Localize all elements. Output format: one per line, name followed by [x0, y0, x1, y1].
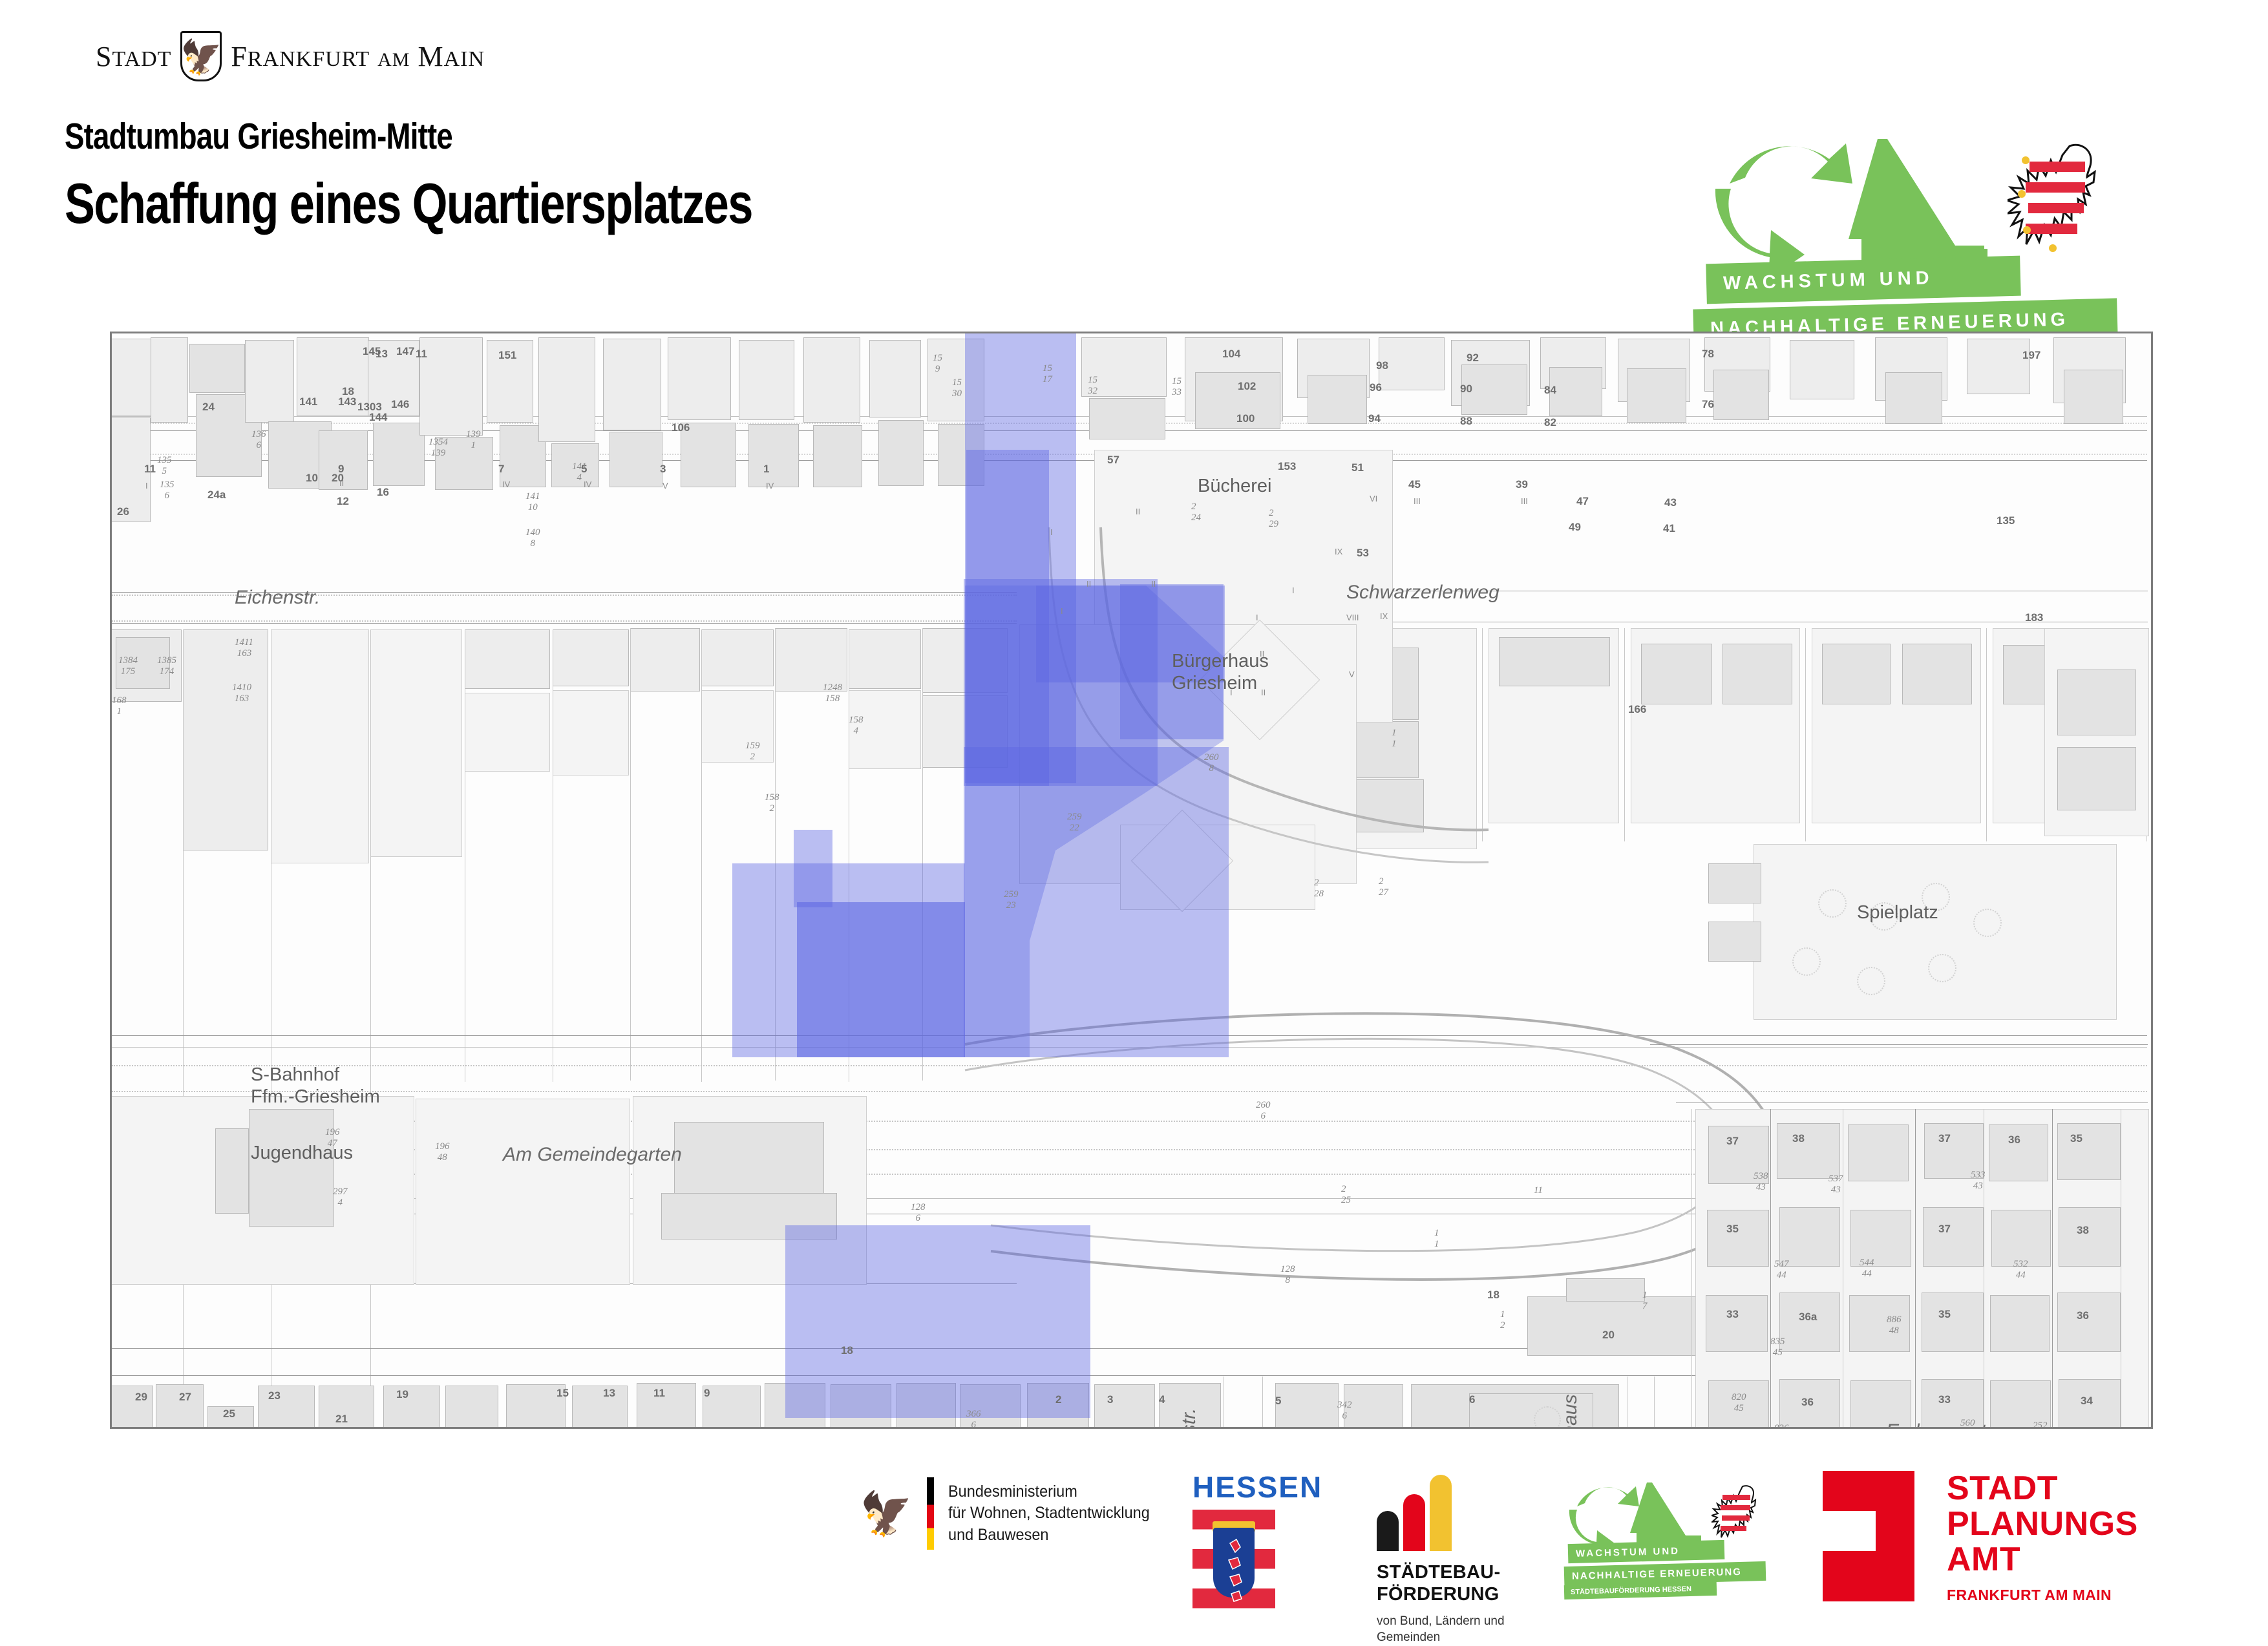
city-logo-stadt: STADT — [96, 40, 171, 73]
poi-sbahn-line1: S-Bahnhof — [251, 1064, 380, 1086]
parcel-number: 141 10 — [525, 491, 540, 513]
house-number: 37 — [1938, 1132, 1951, 1145]
spa-subline: FRANKFURT AM MAIN — [1947, 1587, 2138, 1604]
house-number: 36a — [1799, 1311, 1817, 1324]
house-number: 90 — [1460, 383, 1472, 396]
parcel-number: 140 8 — [525, 527, 540, 549]
house-number: 53 — [1357, 547, 1369, 560]
parcel-number: 886 48 — [1887, 1314, 1902, 1336]
parcel-number: 836 45 — [1774, 1423, 1789, 1429]
house-number: 94 — [1368, 412, 1381, 425]
poi-label-s-bahnhof: S-Bahnhof Ffm.-Griesheim — [251, 1064, 380, 1108]
hessen-logo: HESSEN — [1192, 1470, 1322, 1628]
house-number: 102 — [1238, 380, 1256, 393]
street-label-am-gemeindegarten: Am Gemeindegarten — [503, 1144, 682, 1166]
parcel-number: 136 6 — [251, 429, 266, 451]
house-number: 11 — [144, 463, 156, 476]
storey-label: II — [1136, 507, 1140, 516]
house-number: 9 — [704, 1387, 710, 1400]
parcel-number: 259 23 — [1004, 889, 1019, 911]
house-number: 18 — [841, 1344, 853, 1357]
highlight-area-west-parcel — [797, 902, 965, 1057]
parcel-number: 252 45 — [2033, 1420, 2048, 1429]
wachstum-erneuerung-logo-small: WACHSTUM UND NACHHALTIGE ERNEUERUNG STÄD… — [1564, 1472, 1777, 1595]
house-number: 10 — [306, 472, 318, 485]
street-label-eichenstr: Eichenstr. — [235, 587, 320, 609]
parcel-number: 560 45 — [1960, 1418, 1975, 1429]
wachstum-erneuerung-logo: WACHSTUM UND NACHHALTIGE ERNEUERUNG STÄD… — [1693, 116, 2133, 368]
house-number: 76 — [1702, 398, 1714, 411]
staedtebau-sub-1: von Bund, Ländern und — [1377, 1614, 1505, 1630]
parcel-number: 228 — [1314, 878, 1324, 900]
parcel-number: 544 44 — [1860, 1258, 1874, 1280]
parcel-number: 297 4 — [333, 1187, 348, 1208]
parcel-number: 820 45 — [1732, 1392, 1746, 1414]
hessen-lion-icon-small — [1712, 1481, 1761, 1547]
house-number: 147 — [396, 345, 414, 358]
parcel-number: 196 47 — [325, 1127, 340, 1149]
promo-band-1: WACHSTUM UND — [1706, 256, 2020, 304]
storey-label: V — [1349, 670, 1355, 679]
parcel-number: 11 — [1434, 1228, 1439, 1250]
parcel-number: 12 — [1500, 1309, 1505, 1331]
house-number: 33 — [1726, 1308, 1739, 1321]
parcel-number: 538 43 — [1754, 1171, 1768, 1193]
parcel-number: 196 48 — [435, 1141, 450, 1163]
house-number: 145 — [363, 345, 381, 358]
house-number: 2 — [1055, 1393, 1061, 1406]
house-number: 49 — [1569, 521, 1581, 534]
house-number: 18 — [1487, 1289, 1500, 1302]
parcel-number: 260 8 — [1204, 752, 1219, 774]
storey-label: I — [145, 481, 148, 491]
house-number: 35 — [1938, 1308, 1951, 1321]
house-number: 98 — [1376, 359, 1388, 372]
house-number: 26 — [117, 505, 129, 518]
frankfurt-eagle-crest-icon: 🦅 — [180, 31, 222, 81]
storey-label: VI — [1370, 494, 1377, 503]
parcel-number: 1532 — [1088, 375, 1097, 397]
hessen-lion-icon — [2008, 134, 2104, 264]
house-number: 36 — [2008, 1134, 2020, 1146]
parcel-number: 533 43 — [1971, 1170, 1986, 1192]
parcel-number: 1411 163 — [235, 637, 253, 659]
house-number: 1 — [763, 463, 769, 476]
house-number: 135 — [1997, 514, 2015, 527]
house-number: 104 — [1222, 348, 1240, 361]
street-label-erzbergerstr: Erzbergerstr. — [1886, 1420, 1997, 1429]
cadastral-map[interactable]: Eichenstr. Schwarzerlenweg Am Gemeindega… — [110, 332, 2153, 1429]
house-number: 144 — [369, 411, 387, 424]
house-number: 3 — [1107, 1393, 1113, 1406]
parcel-number: 1384 175 — [118, 655, 138, 677]
promo-small-band-1: WACHSTUM UND — [1568, 1540, 1725, 1563]
bundesadler-icon: 🦅 — [860, 1492, 913, 1535]
spa-line-1: STADT — [1947, 1471, 2138, 1506]
house-number: 106 — [672, 421, 690, 434]
parcel-number: 168 1 — [112, 695, 127, 717]
promo-line-1: WACHSTUM UND — [1723, 268, 1934, 295]
house-number: 15 — [556, 1387, 569, 1400]
storey-label: III — [1521, 496, 1528, 506]
street-label-obere-ruetzelstr: Obere Rützelstr. — [1178, 1408, 1200, 1429]
parcel-number: 11 — [1392, 728, 1397, 750]
house-number: 11 — [416, 348, 427, 361]
house-number: 57 — [1107, 454, 1119, 467]
house-number: 19 — [396, 1388, 408, 1401]
storey-label: V — [662, 481, 668, 491]
house-number: 35 — [2070, 1132, 2083, 1145]
house-number: 45 — [1408, 478, 1421, 491]
parcel-number: 547 44 — [1774, 1259, 1789, 1281]
storey-label: IX — [1335, 547, 1342, 556]
house-number: 11 — [653, 1387, 665, 1400]
house-number: 29 — [135, 1391, 147, 1404]
staedtebau-bars-icon — [1377, 1475, 1505, 1551]
house-number: 51 — [1351, 461, 1364, 474]
parcel-number: 1530 — [952, 377, 962, 399]
house-number: 43 — [1664, 496, 1677, 509]
house-number: 197 — [2022, 349, 2040, 362]
highlight-area-west-parcel-b — [794, 830, 832, 907]
parcel-number: 229 — [1269, 508, 1278, 530]
parcel-number: 139 1 — [466, 429, 481, 451]
poi-label-spielplatz: Spielplatz — [1857, 902, 1938, 923]
parcel-number: 159 2 — [745, 741, 760, 763]
stadtplanungsamt-mark-icon — [1823, 1471, 1914, 1601]
bund-line-3: und Bauwesen — [948, 1525, 1150, 1546]
house-number: 5 — [1275, 1395, 1281, 1408]
poi-buergerhaus-line2: Griesheim — [1172, 672, 1269, 694]
page-subtitle: Stadtumbau Griesheim-Mitte — [65, 115, 752, 158]
bundesministerium-text: Bundesministerium für Wohnen, Stadtentwi… — [948, 1481, 1150, 1546]
storey-label: VIII — [1346, 613, 1359, 622]
house-number: 92 — [1467, 352, 1479, 364]
house-number: 153 — [1278, 460, 1296, 473]
storey-label: I — [1256, 613, 1258, 622]
city-logo: STADT 🦅 FRANKFURT AM MAIN — [96, 31, 485, 81]
house-number: 41 — [1663, 522, 1675, 535]
house-number: 35 — [1726, 1223, 1739, 1236]
house-number: 16 — [377, 486, 389, 499]
house-number: 7 — [498, 463, 504, 476]
parcel-number: 135 6 — [160, 480, 175, 501]
staedtebau-line-1: STÄDTEBAU- — [1377, 1561, 1505, 1583]
parcel-number: 1248 158 — [823, 682, 842, 704]
house-number: 143 — [338, 396, 356, 408]
house-number: 38 — [1792, 1132, 1805, 1145]
storey-label: II — [1151, 579, 1156, 589]
parcel-number: 537 43 — [1828, 1174, 1843, 1196]
parcel-number: 224 — [1191, 501, 1201, 523]
parcel-number: 835 45 — [1770, 1336, 1785, 1358]
parcel-number: 225 — [1341, 1184, 1351, 1206]
house-number: 39 — [1516, 478, 1528, 491]
house-number: 25 — [223, 1408, 235, 1420]
house-number: 96 — [1370, 381, 1382, 394]
house-number: 33 — [1938, 1393, 1951, 1406]
parcel-number: 158 4 — [849, 715, 864, 737]
german-flag-bar-icon — [927, 1477, 934, 1550]
house-number: 166 — [1628, 703, 1646, 716]
poi-buergerhaus-line1: Bürgerhaus — [1172, 650, 1269, 672]
parcel-number: 260 6 — [1256, 1100, 1271, 1122]
house-number: 100 — [1236, 412, 1255, 425]
page-title: Schaffung eines Quartiersplatzes — [65, 171, 752, 237]
hessen-wordmark: HESSEN — [1192, 1470, 1322, 1504]
storey-label: II — [1261, 688, 1266, 697]
parcel-number: 11 — [1534, 1185, 1543, 1196]
storey-label: I — [1050, 527, 1053, 537]
storey-label: II — [339, 478, 344, 488]
page-header: STADT 🦅 FRANKFURT AM MAIN Stadtumbau Gri… — [0, 0, 2268, 323]
stadtplanungsamt-logo: STADT PLANUNGS AMT FRANKFURT AM MAIN — [1823, 1471, 2138, 1604]
parcel-number: 259 22 — [1067, 812, 1082, 834]
parcel-number: 227 — [1379, 876, 1388, 898]
street-label-am-brennhaus: Am Brennhaus — [1560, 1395, 1582, 1429]
street-label-schwarzerlenweg: Schwarzerlenweg — [1346, 582, 1500, 604]
storey-label: IX — [1380, 611, 1388, 621]
parcel-number: 532 44 — [2013, 1259, 2028, 1281]
parcel-number: 128 6 — [911, 1202, 926, 1224]
staedtebau-line-2: FÖRDERUNG — [1377, 1583, 1505, 1605]
house-number: 37 — [1938, 1223, 1951, 1236]
poi-label-buecherei: Bücherei — [1198, 476, 1271, 497]
house-number: 36 — [1801, 1396, 1814, 1409]
house-number: 20 — [1602, 1329, 1615, 1342]
house-number: 13 — [603, 1387, 615, 1400]
house-number: 12 — [337, 495, 349, 508]
storey-label: II — [1260, 649, 1264, 659]
house-number: 9 — [338, 463, 344, 476]
parcel-number: 1354 139 — [429, 437, 448, 459]
house-number: 6 — [1469, 1393, 1475, 1406]
storey-label: IV — [584, 480, 591, 489]
storey-label: I — [1061, 606, 1063, 616]
house-number: 38 — [2077, 1224, 2089, 1237]
hessen-flag-icon — [1192, 1510, 1275, 1628]
house-number: 21 — [335, 1413, 348, 1426]
promo-small-line-3: STÄDTEBAUFÖRDERUNG HESSEN — [1571, 1585, 1691, 1596]
house-number: 183 — [2025, 611, 2043, 624]
parcel-number: 17 — [1642, 1290, 1648, 1312]
parcel-number: 1517 — [1043, 363, 1052, 385]
page-footer: 🦅 Bundesministerium für Wohnen, Stadtent… — [0, 1462, 2268, 1603]
storey-label: I — [1230, 688, 1233, 697]
parcel-number: 366 6 — [966, 1409, 981, 1429]
house-number: 37 — [1726, 1135, 1739, 1148]
bundesministerium-logo: 🦅 Bundesministerium für Wohnen, Stadtent… — [860, 1477, 1163, 1550]
house-number: 78 — [1702, 348, 1714, 361]
highlight-area-south-platform — [785, 1225, 1090, 1418]
house-number: 27 — [179, 1391, 191, 1404]
storey-label: I — [1292, 586, 1295, 595]
storey-label: IV — [766, 481, 774, 491]
bund-line-1: Bundesministerium — [948, 1481, 1150, 1503]
house-number: 146 — [391, 398, 409, 411]
poi-label-buergerhaus: Bürgerhaus Griesheim — [1172, 650, 1269, 694]
city-logo-frankfurt: FRANKFURT AM MAIN — [231, 40, 485, 73]
storey-label: IV — [502, 480, 510, 489]
parcel-number: 128 8 — [1280, 1264, 1295, 1286]
parcel-number: 1410 163 — [232, 682, 251, 704]
house-number: 3 — [660, 463, 666, 476]
house-number: 23 — [268, 1389, 281, 1402]
house-number: 88 — [1460, 415, 1472, 428]
staedtebaufoerderung-logo: STÄDTEBAU- FÖRDERUNG von Bund, Ländern u… — [1377, 1475, 1505, 1646]
house-number: 141 — [299, 396, 317, 408]
house-number: 82 — [1544, 416, 1556, 429]
parcel-number: 135 5 — [157, 455, 172, 477]
house-number: 34 — [2081, 1395, 2093, 1408]
staedtebau-sub-2: Gemeinden — [1377, 1630, 1505, 1646]
parcel-number: 1385 174 — [157, 655, 176, 677]
spa-line-3: AMT — [1947, 1542, 2138, 1577]
parcel-number: 1533 — [1172, 376, 1182, 398]
promo-small-line-1: WACHSTUM UND — [1576, 1545, 1680, 1559]
house-number: 151 — [498, 349, 516, 362]
poi-sbahn-line2: Ffm.-Griesheim — [251, 1086, 380, 1108]
parcel-number: 342 6 — [1337, 1400, 1352, 1422]
house-number: 4 — [1159, 1393, 1165, 1406]
spa-line-2: PLANUNGS — [1947, 1506, 2138, 1542]
title-block: Stadtumbau Griesheim-Mitte Schaffung ein… — [65, 115, 924, 237]
house-number: 84 — [1544, 384, 1556, 397]
bund-line-2: für Wohnen, Stadtentwicklung — [948, 1503, 1150, 1525]
house-number: 36 — [2077, 1309, 2089, 1322]
house-number: 24 — [202, 401, 215, 414]
map-canvas: Eichenstr. Schwarzerlenweg Am Gemeindega… — [112, 333, 2151, 1427]
storey-label: III — [1414, 496, 1421, 506]
parcel-number: 158 2 — [765, 792, 779, 814]
house-number: 24a — [207, 489, 226, 501]
parcel-number: 15 9 — [933, 353, 942, 375]
storey-label: II — [1086, 579, 1091, 589]
promo-small-line-2: NACHHALTIGE ERNEUERUNG — [1572, 1566, 1742, 1581]
house-number: 47 — [1576, 495, 1589, 508]
